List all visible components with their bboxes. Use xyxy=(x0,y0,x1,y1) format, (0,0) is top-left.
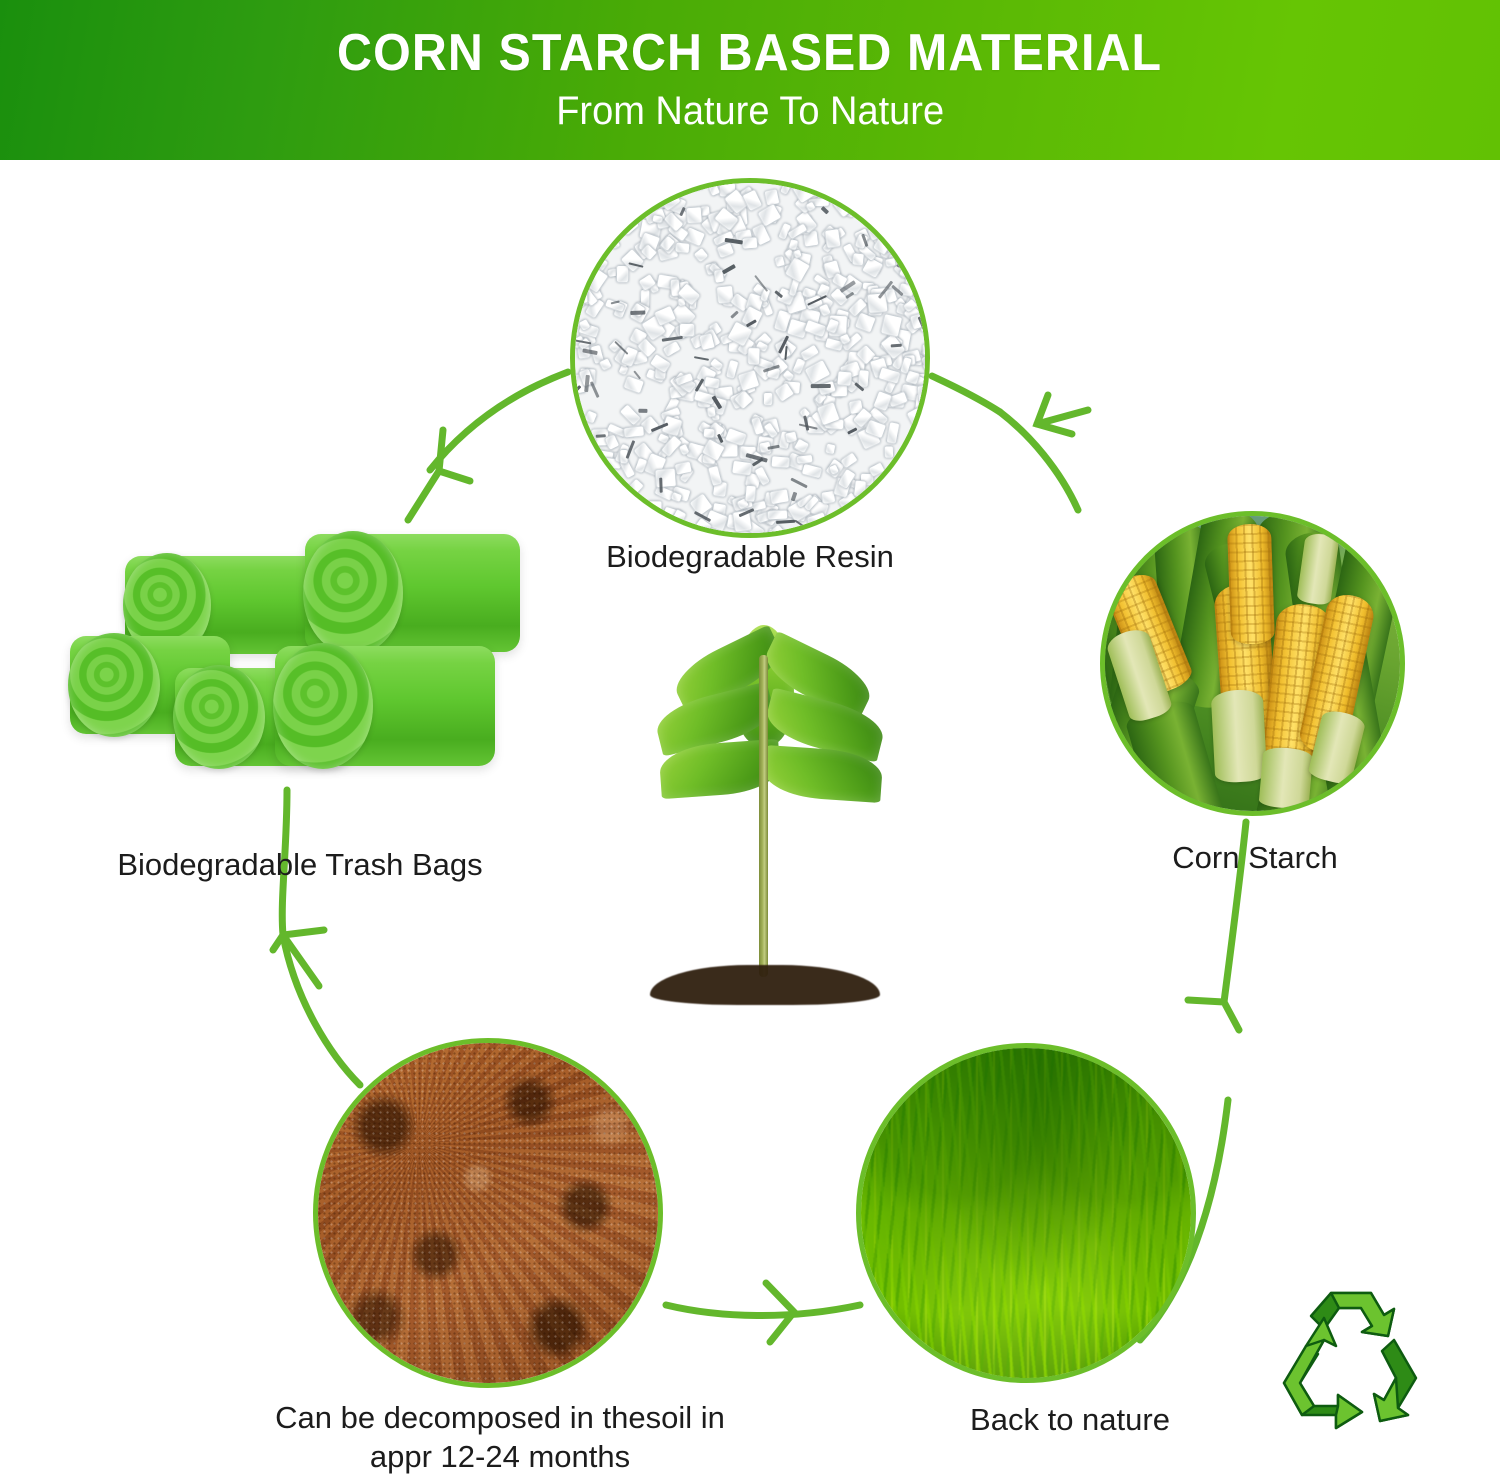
plant-stem xyxy=(759,655,768,977)
resin-pellets-icon xyxy=(571,179,929,537)
page-title: CORN STARCH BASED MATERIAL xyxy=(337,26,1162,81)
node-label-corn: Corn Starch xyxy=(1115,838,1395,877)
node-trash-bags-image xyxy=(70,528,530,828)
header-banner: CORN STARCH BASED MATERIAL From Nature T… xyxy=(0,0,1500,160)
node-grass-image xyxy=(856,1043,1196,1383)
arrowhead-soil-to-grass xyxy=(766,1283,794,1342)
arrowhead-corn-to-resin xyxy=(1037,395,1072,434)
node-resin-image xyxy=(570,178,930,538)
arrow-path-corn-to-resin xyxy=(1000,412,1078,510)
soil-icon xyxy=(314,1039,662,1387)
node-label-resin: Biodegradable Resin xyxy=(545,537,955,576)
grass-icon xyxy=(857,1044,1195,1382)
infographic-page: CORN STARCH BASED MATERIAL From Nature T… xyxy=(0,0,1500,1482)
node-label-trash-bags: Biodegradable Trash Bags xyxy=(40,845,560,884)
trash-bag-roll xyxy=(275,646,495,766)
arrow-path-soil-to-grass xyxy=(666,1305,860,1316)
sapling-plant-icon xyxy=(640,625,890,1005)
node-soil-image xyxy=(313,1038,663,1388)
arrow-path-resin-to-bags-b xyxy=(408,471,439,520)
trash-bag-roll xyxy=(305,534,520,652)
arrowhead-bags-to-soil xyxy=(273,930,324,950)
arrow-path-resin-to-bags xyxy=(430,372,568,470)
corn-cobs-icon xyxy=(1101,512,1404,815)
node-label-soil: Can be decomposed in thesoil in appr 12-… xyxy=(235,1398,765,1476)
page-subtitle: From Nature To Nature xyxy=(556,89,944,134)
recycle-icon xyxy=(1276,1288,1426,1436)
node-corn-image xyxy=(1100,511,1405,816)
arrowhead-tail-corn-to-resin xyxy=(1037,410,1088,424)
arrow-path-corn-to-resin-b xyxy=(932,376,1000,412)
node-label-grass: Back to nature xyxy=(905,1400,1235,1439)
arrowhead-tail-bags-to-soil xyxy=(283,935,319,986)
arrowhead-grass-to-corn xyxy=(1188,1000,1239,1030)
soil-mound xyxy=(650,965,880,1005)
arrowhead-resin-to-bags xyxy=(439,430,470,481)
